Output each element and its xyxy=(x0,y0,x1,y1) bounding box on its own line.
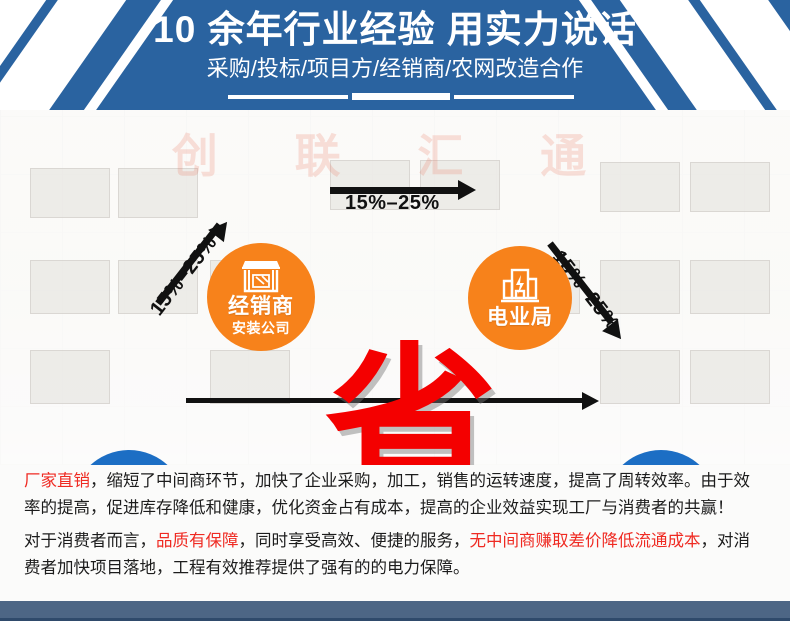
bg-window xyxy=(600,350,680,404)
paragraph-two-highlight-two: 无中间商赚取差价降低流通成本 xyxy=(470,532,701,550)
paragraph-two-mid: ，同时享受高效、便捷的服务， xyxy=(239,532,470,550)
bg-window xyxy=(210,350,290,404)
node-dealer-label: 经销商 xyxy=(228,294,294,319)
header-divider-right xyxy=(454,95,574,99)
paragraph-two: 对于消费者而言，品质有保障，同时享受高效、便捷的服务，无中间商赚取差价降低流通成… xyxy=(0,528,790,582)
paragraph-one-rest: ，缩短了中间商环节，加快了企业采购，加工，销售的运转速度，提高了周转效率。由于效… xyxy=(24,472,750,517)
diagram-stage: 创 联 汇 通 15%–25% 15%–25% 15%–25% 省 在这里省了中… xyxy=(0,110,790,465)
promo-banner-page: 10 余年行业经验 用实力说话 采购/投标/项目方/经销商/农网改造合作 创 联… xyxy=(0,0,790,621)
shop-icon xyxy=(238,258,284,294)
node-bureau[interactable]: 电业局 xyxy=(468,246,572,350)
node-dealer[interactable]: 经销商 安装公司 xyxy=(207,243,315,351)
arrow-dealer-to-bureau-label: 15%–25% xyxy=(345,192,440,215)
background-watermark: 创 联 汇 通 xyxy=(0,120,790,186)
arrow-dealer-to-bureau-head xyxy=(458,180,476,200)
node-dealer-sublabel: 安装公司 xyxy=(232,319,290,337)
power-building-icon xyxy=(498,267,542,305)
bg-window xyxy=(30,350,110,404)
header-divider-center xyxy=(352,93,450,100)
bg-window xyxy=(690,260,770,314)
center-save-character: 省 xyxy=(325,342,497,465)
paragraph-one-highlight: 厂家直销 xyxy=(24,472,90,490)
bg-window xyxy=(690,350,770,404)
paragraph-one: 厂家直销，缩短了中间商环节，加快了企业采购，加工，销售的运转速度，提高了周转效率… xyxy=(0,468,790,522)
page-header: 10 余年行业经验 用实力说话 采购/投标/项目方/经销商/农网改造合作 xyxy=(0,0,790,110)
bg-window xyxy=(30,260,110,314)
paragraph-two-lead: 对于消费者而言， xyxy=(24,532,156,550)
paragraph-two-wrap: 对于消费者而言，品质有保障，同时享受高效、便捷的服务，无中间商赚取差价降低流通成… xyxy=(0,528,790,582)
node-bureau-label: 电业局 xyxy=(487,305,553,330)
paragraph-two-highlight-one: 品质有保障 xyxy=(156,532,239,550)
header-subtitle: 采购/投标/项目方/经销商/农网改造合作 xyxy=(0,55,790,83)
paragraph-one-wrap: 厂家直销，缩短了中间商环节，加快了企业采购，加工，销售的运转速度，提高了周转效率… xyxy=(0,468,790,522)
header-title: 10 余年行业经验 用实力说话 xyxy=(0,7,790,52)
arrow-company-to-consumer-head xyxy=(582,392,599,410)
header-divider-left xyxy=(228,95,348,99)
